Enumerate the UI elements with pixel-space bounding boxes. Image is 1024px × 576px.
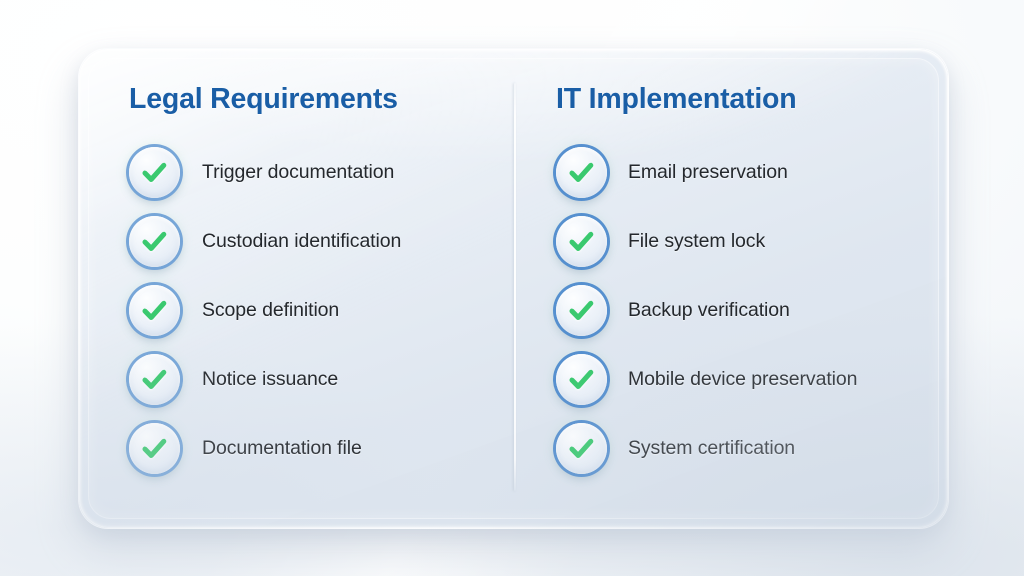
check-circle-icon bbox=[556, 216, 607, 267]
check-circle-icon bbox=[129, 354, 180, 405]
check-circle-icon bbox=[556, 423, 607, 474]
list-item[interactable]: Notice issuance bbox=[129, 345, 514, 414]
column-divider bbox=[514, 83, 516, 491]
list-item-label: Email preservation bbox=[628, 161, 788, 184]
list-item-label: Mobile device preservation bbox=[628, 368, 857, 391]
glass-checklist-card: Legal Requirements Trigger documentation bbox=[78, 48, 949, 529]
check-circle-icon bbox=[129, 147, 180, 198]
list-item[interactable]: Scope definition bbox=[129, 276, 514, 345]
list-item-label: Backup verification bbox=[628, 299, 790, 322]
list-item[interactable]: Backup verification bbox=[556, 276, 948, 345]
list-item[interactable]: Documentation file bbox=[129, 414, 514, 483]
list-item-label: Notice issuance bbox=[202, 368, 338, 391]
column-title-legal-requirements: Legal Requirements bbox=[129, 83, 514, 116]
check-circle-icon bbox=[556, 354, 607, 405]
list-item-label: File system lock bbox=[628, 230, 765, 253]
list-item-label: Custodian identification bbox=[202, 230, 401, 253]
slide-canvas: Legal Requirements Trigger documentation bbox=[0, 0, 1024, 576]
check-circle-icon bbox=[556, 147, 607, 198]
list-item[interactable]: Mobile device preservation bbox=[556, 345, 948, 414]
list-item[interactable]: Custodian identification bbox=[129, 207, 514, 276]
check-circle-icon bbox=[129, 423, 180, 474]
column-title-it-implementation: IT Implementation bbox=[556, 83, 948, 116]
list-item-label: Trigger documentation bbox=[202, 161, 394, 184]
checklist-it-implementation: Email preservation File system lock bbox=[556, 138, 948, 483]
check-circle-icon bbox=[556, 285, 607, 336]
column-legal-requirements: Legal Requirements Trigger documentation bbox=[79, 49, 514, 528]
list-item[interactable]: System certification bbox=[556, 414, 948, 483]
checklist-legal-requirements: Trigger documentation Custodian identifi… bbox=[129, 138, 514, 483]
list-item[interactable]: Email preservation bbox=[556, 138, 948, 207]
column-it-implementation: IT Implementation Email preservation bbox=[514, 49, 948, 528]
check-circle-icon bbox=[129, 216, 180, 267]
list-item-label: System certification bbox=[628, 437, 795, 460]
list-item-label: Documentation file bbox=[202, 437, 362, 460]
check-circle-icon bbox=[129, 285, 180, 336]
list-item[interactable]: File system lock bbox=[556, 207, 948, 276]
list-item-label: Scope definition bbox=[202, 299, 339, 322]
list-item[interactable]: Trigger documentation bbox=[129, 138, 514, 207]
